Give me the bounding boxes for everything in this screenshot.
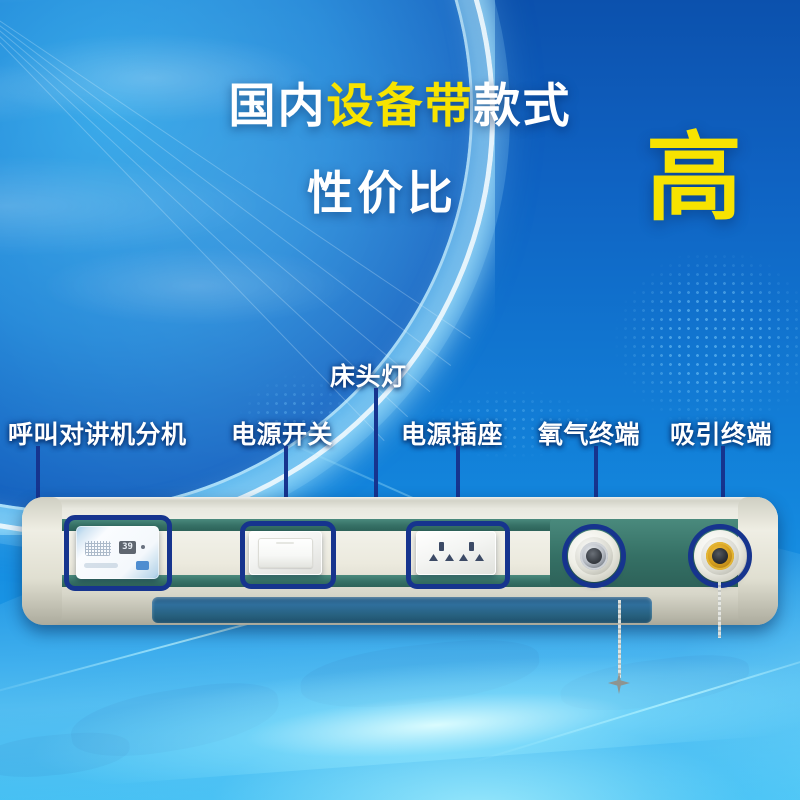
callout-label-bed-lamp: 床头灯 <box>330 357 407 393</box>
poster-canvas: 国内设备带款式 性价比 高 呼叫对讲机分机 电源开关 床头灯 电源插座 氧气终端… <box>0 0 800 800</box>
panel-left-endcap <box>22 497 62 625</box>
headline-line-2: 性价比 <box>307 157 457 223</box>
call-pull-cord[interactable] <box>618 600 621 678</box>
highlight-box-intercom <box>64 515 172 591</box>
headline-emphasis-word: 高 <box>646 131 742 227</box>
callout-label-oxygen: 氧气终端 <box>538 415 640 451</box>
callout-label-power-switch: 电源开关 <box>231 415 333 451</box>
headline-block: 国内设备带款式 性价比 高 <box>0 82 800 233</box>
highlight-box-power-socket <box>406 521 510 589</box>
bed-lamp-rail[interactable] <box>152 597 652 623</box>
highlight-circle-suction <box>688 524 752 588</box>
suction-terminal-hose <box>718 582 721 638</box>
headline-line1-part3: 款式 <box>474 79 572 132</box>
headline-line-1: 国内设备带款式 <box>0 82 800 129</box>
highlight-circle-oxygen <box>562 524 626 588</box>
callout-label-intercom: 呼叫对讲机分机 <box>8 415 187 451</box>
headline-line-2-row: 性价比 高 <box>0 155 800 233</box>
highlight-box-power-switch <box>240 521 336 589</box>
headline-line1-part1: 国内 <box>229 79 327 132</box>
callout-label-power-socket: 电源插座 <box>401 415 503 451</box>
headline-line1-highlight: 设备带 <box>327 79 474 132</box>
